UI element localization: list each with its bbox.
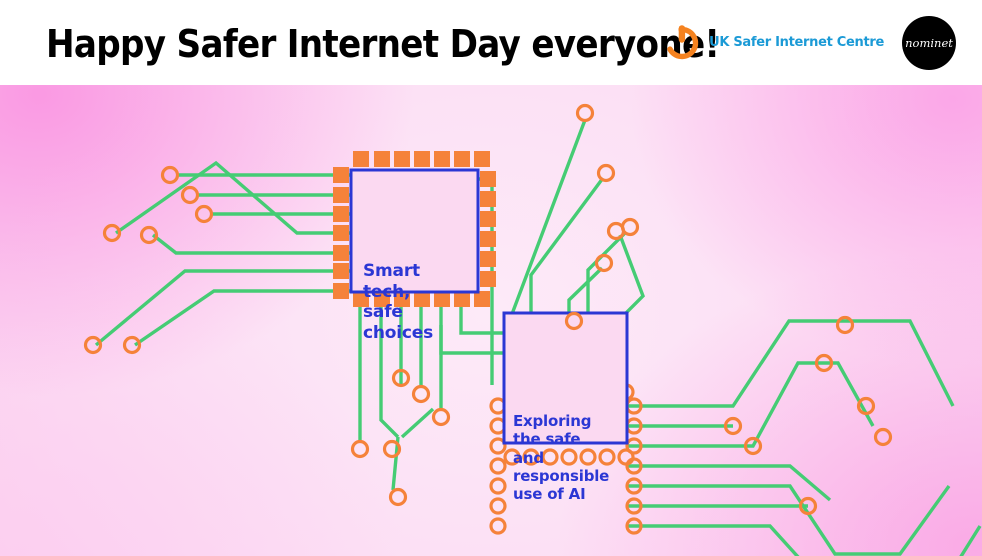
- logo-group: UK Safer Internet Centre nominet: [662, 14, 956, 72]
- circuit-traces-graphic: [0, 85, 982, 556]
- chip-smart-tech: [333, 151, 496, 307]
- header-bar: Happy Safer Internet Day everyone! UK Sa…: [0, 0, 982, 85]
- uk-safer-internet-centre-wordmark: UK Safer Internet Centre: [709, 36, 884, 50]
- nominet-logo: nominet: [902, 16, 956, 70]
- nominet-wordmark: nominet: [905, 36, 953, 50]
- uk-safer-internet-centre-logo: UK Safer Internet Centre: [662, 22, 884, 64]
- chip1-pads-left: [333, 167, 349, 299]
- circuit-board-illustration: Smart tech, safe choices Exploring the s…: [0, 85, 982, 556]
- chip1-pads-top: [353, 151, 490, 167]
- slide-canvas: Happy Safer Internet Day everyone! UK Sa…: [0, 0, 982, 556]
- chip-exploring-ai: [491, 313, 641, 533]
- chip2-body: [504, 313, 627, 443]
- page-title: Happy Safer Internet Day everyone!: [46, 22, 719, 66]
- chip1-body: [351, 170, 478, 292]
- power-button-icon: [662, 22, 702, 64]
